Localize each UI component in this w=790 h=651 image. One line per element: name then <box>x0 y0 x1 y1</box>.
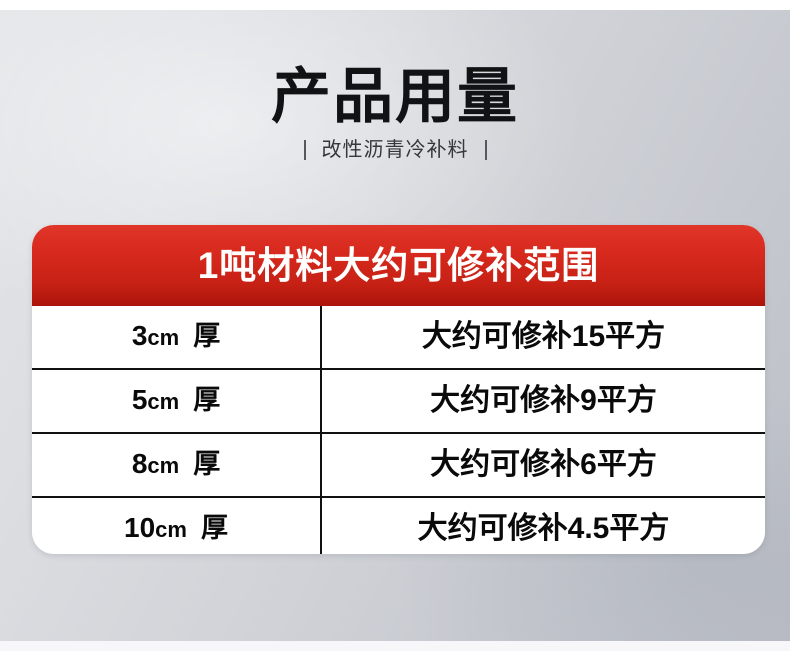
thickness-value: 5 <box>132 384 148 415</box>
thickness-cell: 3cm厚 <box>32 306 322 368</box>
subtitle-row: 改性沥青冷补料 <box>0 138 790 162</box>
thickness-cell: 8cm厚 <box>32 434 322 496</box>
thickness-unit: cm <box>147 389 179 414</box>
table-row: 3cm厚 大约可修补15平方 <box>32 306 765 370</box>
coverage-table-header: 1吨材料大约可修补范围 <box>32 225 765 306</box>
coverage-text: 大约可修补15平方 <box>422 320 665 354</box>
divider-bar-right-icon <box>485 140 487 160</box>
table-row: 5cm厚 大约可修补9平方 <box>32 370 765 434</box>
thickness-word: 厚 <box>193 321 220 351</box>
thickness-value: 3 <box>132 320 148 351</box>
thickness-value: 8 <box>132 448 148 479</box>
thickness-word: 厚 <box>193 449 220 479</box>
coverage-text: 大约可修补9平方 <box>430 384 657 418</box>
coverage-cell: 大约可修补4.5平方 <box>322 498 765 554</box>
divider-bar-left-icon <box>304 140 306 160</box>
thickness-unit: cm <box>147 453 179 478</box>
page-title: 产品用量 <box>0 62 790 132</box>
table-row: 8cm厚 大约可修补6平方 <box>32 434 765 498</box>
thickness-text: 10cm厚 <box>124 512 228 546</box>
coverage-text: 大约可修补4.5平方 <box>418 512 670 546</box>
product-usage-infographic: 产品用量 改性沥青冷补料 1吨材料大约可修补范围 3cm厚 大约可修补15平方 … <box>0 0 790 651</box>
thickness-word: 厚 <box>201 513 228 543</box>
thickness-text: 5cm厚 <box>132 384 220 418</box>
thickness-word: 厚 <box>193 385 220 415</box>
coverage-cell: 大约可修补6平方 <box>322 434 765 496</box>
thickness-unit: cm <box>147 325 179 350</box>
table-row: 10cm厚 大约可修补4.5平方 <box>32 498 765 554</box>
coverage-text: 大约可修补6平方 <box>430 448 657 482</box>
thickness-cell: 5cm厚 <box>32 370 322 432</box>
bottom-white-strip <box>0 641 790 651</box>
coverage-table-header-label: 1吨材料大约可修补范围 <box>198 244 600 288</box>
thickness-value: 10 <box>124 512 155 543</box>
heading-block: 产品用量 改性沥青冷补料 <box>0 62 790 162</box>
thickness-text: 3cm厚 <box>132 320 220 354</box>
page-subtitle: 改性沥青冷补料 <box>322 138 469 162</box>
coverage-table-body: 3cm厚 大约可修补15平方 5cm厚 大约可修补9平方 8cm厚 <box>32 306 765 554</box>
thickness-text: 8cm厚 <box>132 448 220 482</box>
thickness-cell: 10cm厚 <box>32 498 322 554</box>
top-white-strip <box>0 0 790 10</box>
thickness-unit: cm <box>155 517 187 542</box>
coverage-table-card: 1吨材料大约可修补范围 3cm厚 大约可修补15平方 5cm厚 大约可修补9平方 <box>32 225 765 554</box>
coverage-cell: 大约可修补9平方 <box>322 370 765 432</box>
coverage-cell: 大约可修补15平方 <box>322 306 765 368</box>
